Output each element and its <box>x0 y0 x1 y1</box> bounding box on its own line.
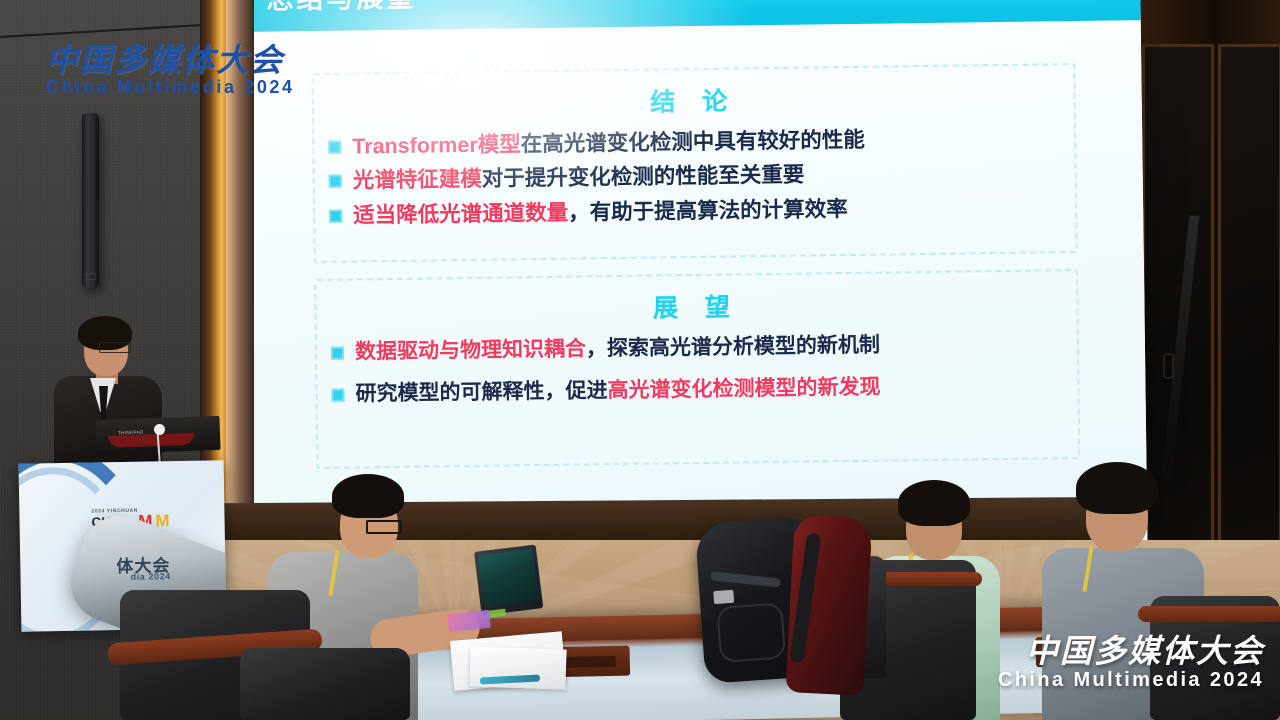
watermark-en-text: China Multimedia 2024 <box>998 669 1264 692</box>
bullet-list-conclusion: Transformer模型在高光谱变化检测中具有较好的性能 光谱特征建模对于提升… <box>328 123 1075 230</box>
equipment-case <box>785 514 872 696</box>
bullet-item: 适当降低光谱通道数量，有助于提高算法的计算效率 <box>329 192 1075 230</box>
bullet-text: 对于提升变化检测的性能至关重要 <box>482 163 805 191</box>
audience-hair <box>1076 462 1158 514</box>
glasses-icon <box>366 520 402 534</box>
section-heading-conclusion: 结 论 <box>314 77 1074 123</box>
audience-hair <box>898 480 970 526</box>
bullet-text: ，探索高光谱分析模型的新机制 <box>586 334 880 361</box>
watermark-cn-text: 中国多媒体大会 <box>46 44 295 76</box>
tray-slot <box>558 656 616 668</box>
chair-mid <box>240 648 410 720</box>
watermark-cn-text: 中国多媒体大会 <box>998 635 1264 667</box>
bullet-highlight: 数据驱动与物理知识耦合 <box>355 337 586 363</box>
watermark-bottom-right: 中国多媒体大会 China Multimedia 2024 <box>998 635 1264 692</box>
slide-section-outlook: 展 望 数据驱动与物理知识耦合，探索高光谱分析模型的新机制 研究模型的可解释性，… <box>314 269 1080 469</box>
bullet-item: 研究模型的可解释性，促进高光谱变化检测模型的新发现 <box>331 371 1077 408</box>
bullet-square-icon <box>329 175 342 188</box>
bullet-item: 光谱特征建模对于提升变化检测的性能至关重要 <box>329 157 1075 195</box>
microphone-head <box>154 424 165 435</box>
bullet-item: Transformer模型在高光谱变化检测中具有较好的性能 <box>328 123 1074 161</box>
backpack-buckle <box>713 590 734 604</box>
bullet-highlight: Transformer模型 <box>352 132 521 158</box>
bullet-list-outlook: 数据驱动与物理知识耦合，探索高光谱分析模型的新机制 研究模型的可解释性，促进高光… <box>331 329 1078 408</box>
water-bottle <box>1244 572 1263 642</box>
bullet-square-icon <box>328 141 341 154</box>
section-heading-outlook: 展 望 <box>316 283 1076 329</box>
door-handle <box>1163 353 1174 379</box>
water-bottle <box>456 548 475 610</box>
case-strap <box>789 532 821 663</box>
bullet-highlight: 适当降低光谱通道数量 <box>353 200 568 227</box>
backpack-strap <box>710 571 781 587</box>
laptop-screen <box>478 549 538 607</box>
audience-hair <box>332 474 404 518</box>
watermark-en-text: China Multimedia 2024 <box>46 77 295 98</box>
bullet-item: 数据驱动与物理知识耦合，探索高光谱分析模型的新机制 <box>331 329 1077 366</box>
water-bottle <box>640 596 659 668</box>
slide-section-conclusion: 结 论 Transformer模型在高光谱变化检测中具有较好的性能 光谱特征建模… <box>311 63 1077 263</box>
laptop-sticker <box>487 609 506 618</box>
bullet-highlight: 高光谱变化检测模型的新发现 <box>607 375 880 402</box>
bullet-text: 研究模型的可解释性，促进 <box>355 379 607 405</box>
bullet-square-icon <box>331 388 344 401</box>
conference-photo-scene: 总结与展望 结 论 Transformer模型在高光谱变化检测中具有较好的性能 … <box>0 0 1280 720</box>
water-bottle <box>540 558 559 620</box>
bullet-text: 在高光谱变化检测中具有较好的性能 <box>521 128 865 157</box>
slide-title-band: 总结与展望 <box>244 0 1140 32</box>
water-bottle <box>988 516 1007 578</box>
column-speaker <box>82 113 99 288</box>
watermark-top-left: 中国多媒体大会 China Multimedia 2024 <box>46 44 295 98</box>
glasses-icon <box>99 342 131 353</box>
slide-title: 总结与展望 <box>266 0 416 17</box>
lectern-label: THINKPAD <box>118 430 144 436</box>
bullet-text: ，有助于提高算法的计算效率 <box>568 197 848 225</box>
bullet-square-icon <box>331 347 344 360</box>
water-bottle <box>764 640 783 716</box>
bullet-highlight: 光谱特征建模 <box>353 167 482 193</box>
banner-en-text: dia 2024 <box>130 571 170 582</box>
bullet-square-icon <box>329 209 342 222</box>
